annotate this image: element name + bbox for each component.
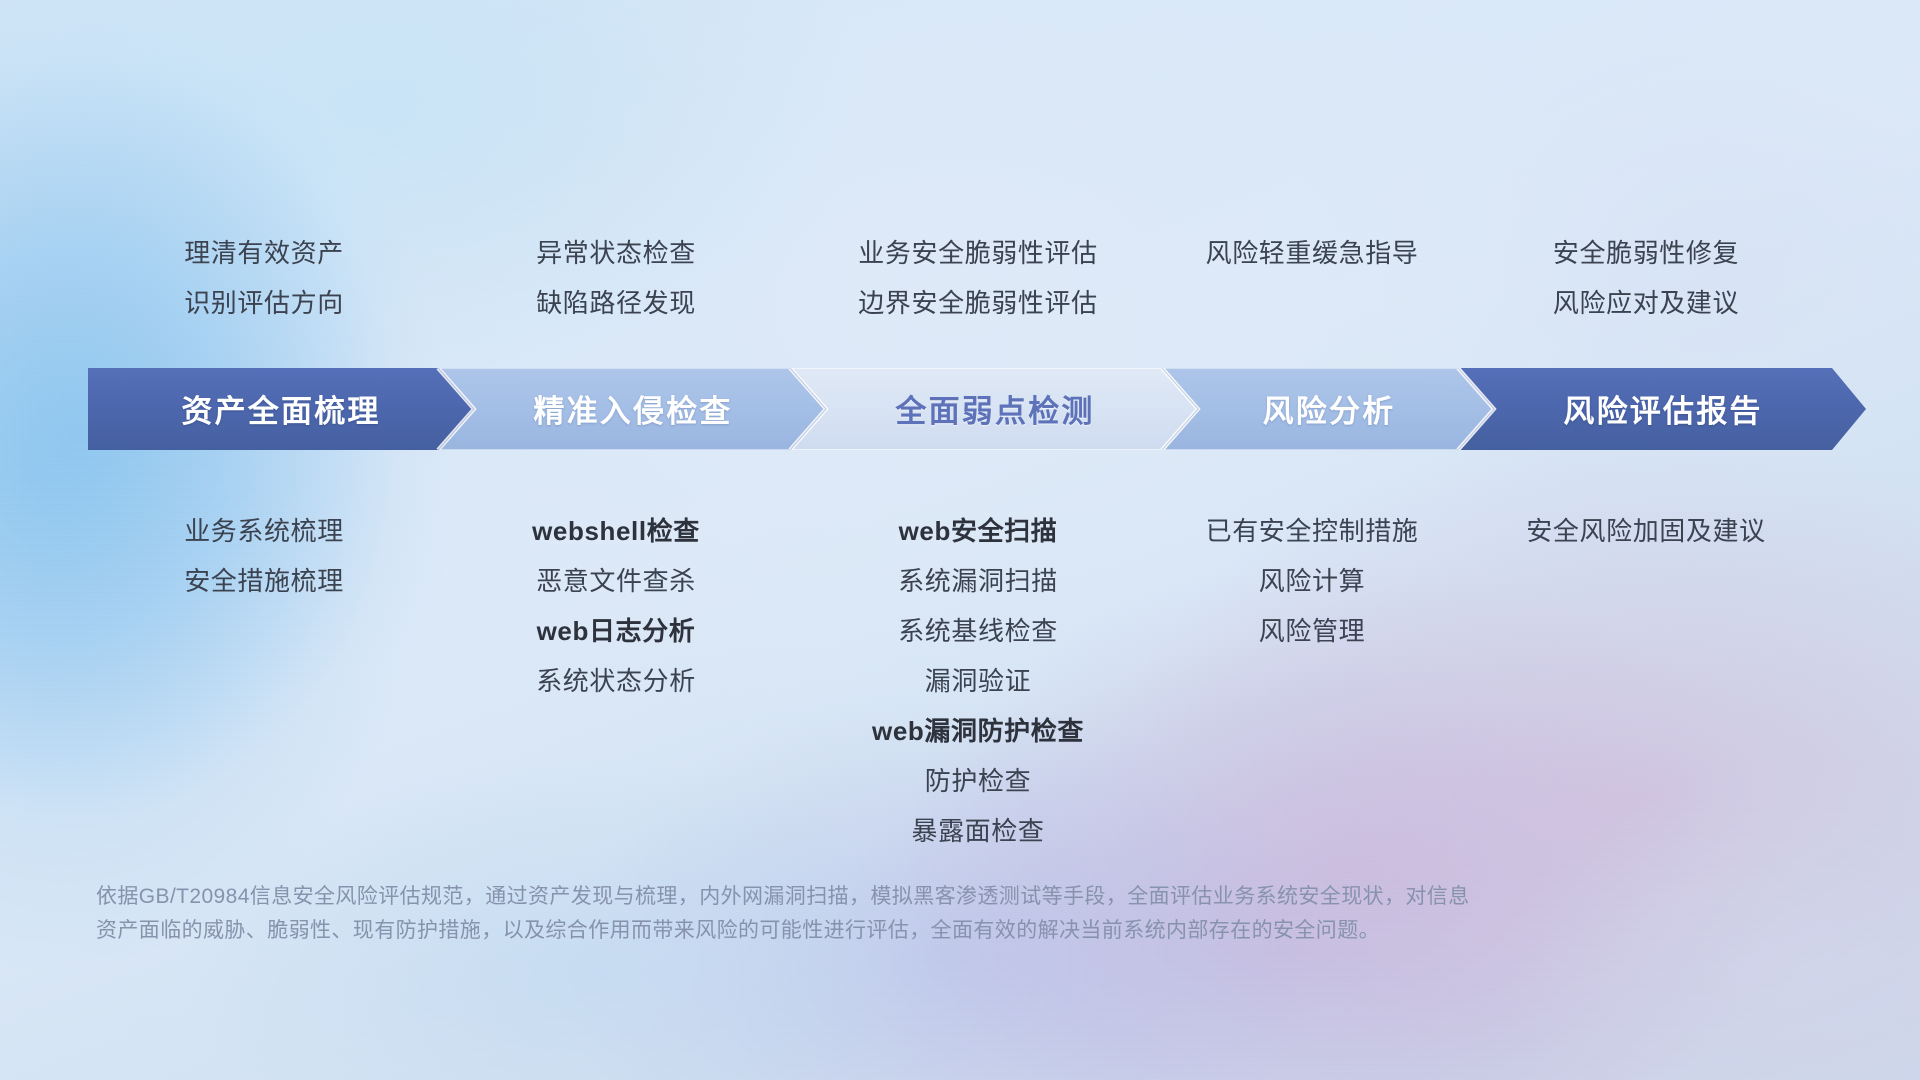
list-item: 暴露面检查 <box>911 806 1044 856</box>
list-item: 漏洞验证 <box>925 656 1031 706</box>
list-item: 系统状态分析 <box>536 656 696 706</box>
list-item: web漏洞防护检查 <box>872 706 1084 756</box>
top-label: 风险应对及建议 <box>1553 278 1739 328</box>
detail-list-intrusion-check: webshell检查恶意文件查杀web日志分析系统状态分析 <box>440 506 792 856</box>
list-item: 系统基线检查 <box>898 606 1058 656</box>
list-item: 安全措施梳理 <box>184 556 344 606</box>
top-labels-risk-analysis: 风险轻重缓急指导 <box>1164 228 1460 328</box>
list-item: webshell检查 <box>532 506 700 556</box>
list-item: 业务系统梳理 <box>184 506 344 556</box>
process-stage-asset-inventory[interactable]: 资产全面梳理 <box>88 368 474 450</box>
list-item: 防护检查 <box>925 756 1031 806</box>
list-item: 安全风险加固及建议 <box>1526 506 1765 556</box>
process-stage-label: 全面弱点检测 <box>895 386 1094 431</box>
detail-list-risk-analysis: 已有安全控制措施风险计算风险管理 <box>1164 506 1460 856</box>
process-stage-label: 资产全面梳理 <box>181 386 380 431</box>
detail-list-risk-report: 安全风险加固及建议 <box>1460 506 1832 856</box>
top-labels-weakness-detection: 业务安全脆弱性评估边界安全脆弱性评估 <box>792 228 1164 328</box>
top-label: 异常状态检查 <box>536 228 696 278</box>
top-label-row: 理清有效资产识别评估方向异常状态检查缺陷路径发现业务安全脆弱性评估边界安全脆弱性… <box>88 228 1832 328</box>
process-stage-label: 精准入侵检查 <box>533 386 732 431</box>
top-label: 缺陷路径发现 <box>536 278 696 328</box>
top-labels-risk-report: 安全脆弱性修复风险应对及建议 <box>1460 228 1832 328</box>
process-stage-label: 风险分析 <box>1263 386 1396 431</box>
detail-list-asset-inventory: 业务系统梳理安全措施梳理 <box>88 506 440 856</box>
top-labels-asset-inventory: 理清有效资产识别评估方向 <box>88 228 440 328</box>
detail-list-row: 业务系统梳理安全措施梳理webshell检查恶意文件查杀web日志分析系统状态分… <box>88 506 1832 856</box>
slide-canvas: 理清有效资产识别评估方向异常状态检查缺陷路径发现业务安全脆弱性评估边界安全脆弱性… <box>0 0 1920 1080</box>
top-label: 风险轻重缓急指导 <box>1206 228 1419 278</box>
top-label: 理清有效资产 <box>184 228 344 278</box>
process-stage-intrusion-check[interactable]: 精准入侵检查 <box>440 368 826 450</box>
process-stage-label: 风险评估报告 <box>1563 386 1762 431</box>
footer-description: 依据GB/T20984信息安全风险评估规范，通过资产发现与梳理，内外网漏洞扫描，… <box>96 880 1726 948</box>
top-label: 边界安全脆弱性评估 <box>858 278 1097 328</box>
list-item: web日志分析 <box>537 606 696 656</box>
top-label: 安全脆弱性修复 <box>1553 228 1739 278</box>
top-labels-intrusion-check: 异常状态检查缺陷路径发现 <box>440 228 792 328</box>
process-stage-weakness-detection[interactable]: 全面弱点检测 <box>792 368 1198 450</box>
list-item: 风险计算 <box>1259 556 1365 606</box>
process-stage-risk-analysis[interactable]: 风险分析 <box>1164 368 1494 450</box>
process-arrow-band: 资产全面梳理精准入侵检查全面弱点检测风险分析风险评估报告 <box>88 368 1832 450</box>
process-stage-risk-report[interactable]: 风险评估报告 <box>1460 368 1866 450</box>
list-item: 风险管理 <box>1259 606 1365 656</box>
footer-line-2: 资产面临的威胁、脆弱性、现有防护措施，以及综合作用而带来风险的可能性进行评估，全… <box>96 914 1726 948</box>
list-item: 系统漏洞扫描 <box>898 556 1058 606</box>
footer-line-1: 依据GB/T20984信息安全风险评估规范，通过资产发现与梳理，内外网漏洞扫描，… <box>96 880 1726 914</box>
top-label: 业务安全脆弱性评估 <box>858 228 1097 278</box>
top-label: 识别评估方向 <box>184 278 344 328</box>
list-item: 恶意文件查杀 <box>536 556 696 606</box>
list-item: 已有安全控制措施 <box>1206 506 1419 556</box>
list-item: web安全扫描 <box>899 506 1058 556</box>
detail-list-weakness-detection: web安全扫描系统漏洞扫描系统基线检查漏洞验证web漏洞防护检查防护检查暴露面检… <box>792 506 1164 856</box>
